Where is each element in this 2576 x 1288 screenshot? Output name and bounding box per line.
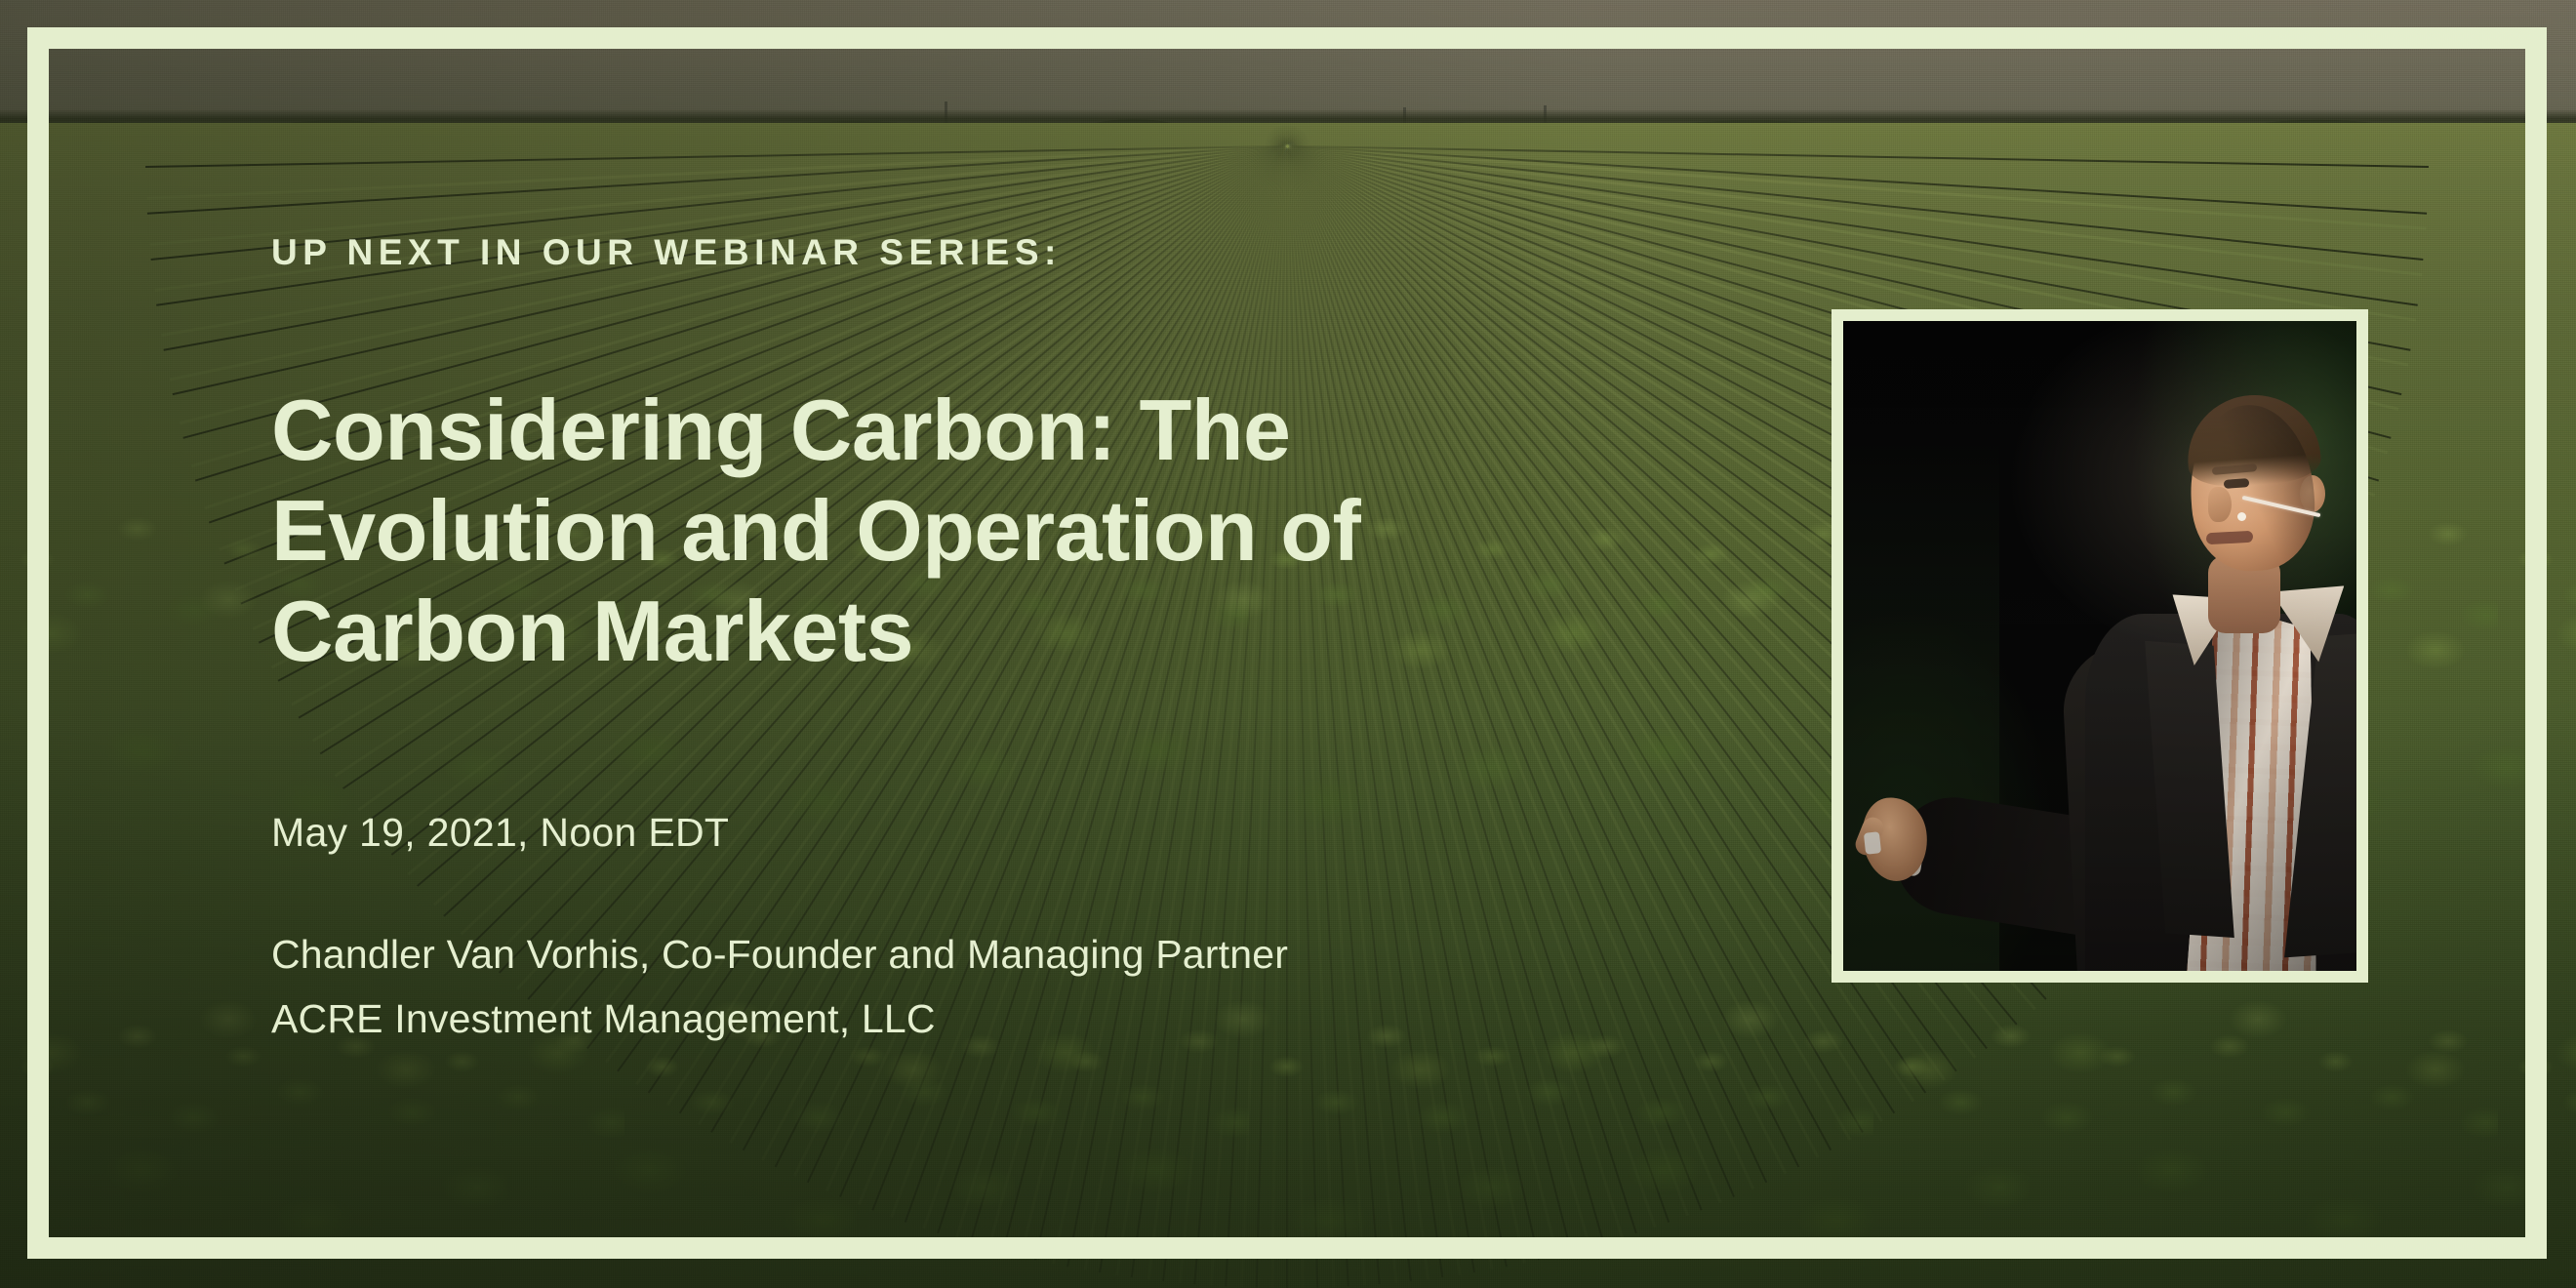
speaker-organization: ACRE Investment Management, LLC	[271, 986, 1288, 1051]
event-datetime: May 19, 2021, Noon EDT	[271, 810, 729, 856]
webinar-promo-banner: UP NEXT IN OUR WEBINAR SERIES: Consideri…	[0, 0, 2576, 1288]
speaker-photo-frame	[1831, 309, 2368, 983]
stage-lighting-overlay	[1843, 321, 2356, 971]
speaker-details: Chandler Van Vorhis, Co-Founder and Mana…	[271, 922, 1288, 1052]
eyebrow-label: UP NEXT IN OUR WEBINAR SERIES:	[271, 232, 1062, 273]
page-title: Considering Carbon: The Evolution and Op…	[271, 381, 1569, 682]
speaker-photo	[1843, 321, 2356, 971]
speaker-name-title: Chandler Van Vorhis, Co-Founder and Mana…	[271, 922, 1288, 986]
